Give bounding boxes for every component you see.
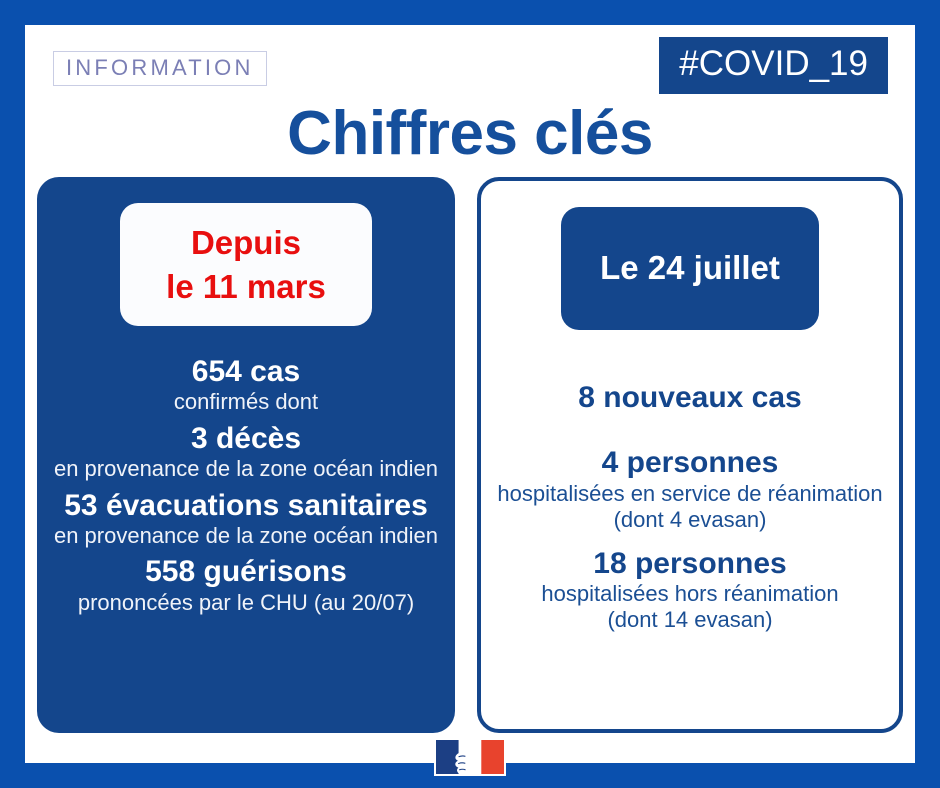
stat-value: 654 cas [43, 354, 449, 389]
marianne-tricolor-icon [436, 740, 504, 774]
stat-value: 3 décès [43, 421, 449, 456]
panel-since-march: Depuis le 11 mars 654 cas confirmés dont… [37, 177, 455, 733]
page-title: Chiffres clés [25, 103, 915, 165]
information-tag: INFORMATION [53, 51, 267, 86]
covid-hashtag-label: #COVID_19 [679, 45, 868, 83]
panel-left-stats: 654 cas confirmés dont 3 décès en proven… [37, 354, 455, 616]
stat-note-secondary: (dont 4 evasan) [489, 507, 891, 533]
stat-note: hospitalisées hors réanimation [489, 581, 891, 607]
panel-july-24: Le 24 juillet 8 nouveaux cas 4 personnes… [477, 177, 903, 733]
stat-note-secondary: (dont 14 evasan) [489, 607, 891, 633]
panel-right-stats: 8 nouveaux cas 4 personnes hospitalisées… [481, 380, 899, 634]
panel-left-header-text: Depuis le 11 mars [166, 221, 326, 308]
stat-value: 4 personnes [489, 445, 891, 480]
stat-note: hospitalisées en service de réanimation [489, 481, 891, 507]
panel-left-header-line2: le 11 mars [166, 265, 326, 309]
panel-right-header-line1: Le 24 juillet [600, 247, 780, 290]
information-tag-label: INFORMATION [66, 57, 254, 79]
panel-left-header-line1: Depuis [166, 221, 326, 265]
poster-inner-card: INFORMATION #COVID_19 Chiffres clés Depu… [25, 25, 915, 763]
covid-infographic-poster: INFORMATION #COVID_19 Chiffres clés Depu… [0, 0, 940, 788]
stat-value: 8 nouveaux cas [489, 380, 891, 415]
stat-note: confirmés dont [43, 389, 449, 415]
stat-note: en provenance de la zone océan indien [43, 456, 449, 482]
stat-note: en provenance de la zone océan indien [43, 523, 449, 549]
stat-value: 53 évacuations sanitaires [43, 488, 449, 523]
covid-hashtag-badge: #COVID_19 [659, 37, 888, 94]
panel-left-header-pill: Depuis le 11 mars [120, 203, 372, 326]
panel-right-header-pill: Le 24 juillet [561, 207, 819, 330]
stat-note: prononcées par le CHU (au 20/07) [43, 590, 449, 616]
stat-value: 18 personnes [489, 546, 891, 581]
stats-panels: Depuis le 11 mars 654 cas confirmés dont… [37, 177, 903, 733]
french-republic-logo [434, 738, 506, 776]
stat-value: 558 guérisons [43, 554, 449, 589]
panel-right-header-text: Le 24 juillet [600, 247, 780, 290]
